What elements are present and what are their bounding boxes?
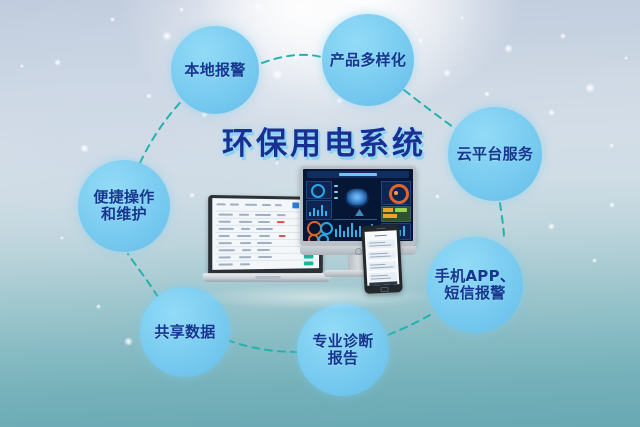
- node-bubble-label: 共享数据: [154, 324, 215, 341]
- phone-home-button: [380, 287, 388, 292]
- node-bubble-label: 便捷操作 和维护: [93, 189, 154, 223]
- node-bubble-easy-operation[interactable]: 便捷操作 和维护: [78, 160, 170, 252]
- node-bubble-label: 专业诊断 报告: [312, 333, 373, 367]
- laptop-notch: [255, 276, 281, 279]
- connector-c1: [262, 55, 325, 63]
- connector-c6: [128, 254, 158, 297]
- node-bubble-label: 本地报警: [184, 62, 245, 79]
- connector-c4: [388, 315, 430, 335]
- node-bubble-local-alarm[interactable]: 本地报警: [171, 26, 259, 114]
- monitor-logo: [355, 248, 362, 255]
- node-bubble-label: 手机APP、 短信报警: [435, 268, 515, 302]
- node-bubble-mobile-app-sms[interactable]: 手机APP、 短信报警: [427, 237, 523, 333]
- connector-c3: [500, 203, 504, 240]
- node-bubble-product-diversity[interactable]: 产品多样化: [322, 14, 414, 106]
- poster-canvas: 本地报警产品多样化云平台服务手机APP、 短信报警专业诊断 报告共享数据便捷操作…: [0, 0, 640, 427]
- connector-c5: [230, 341, 298, 352]
- node-bubble-label: 产品多样化: [330, 52, 407, 69]
- page-title: 环保用电系统: [222, 118, 426, 163]
- node-bubble-cloud-platform[interactable]: 云平台服务: [448, 107, 542, 201]
- phone-speaker: [376, 228, 385, 229]
- phone-screen: [365, 230, 400, 286]
- smartphone-device: [361, 224, 403, 294]
- node-bubble-diagnosis-report[interactable]: 专业诊断 报告: [297, 304, 389, 396]
- node-bubble-label: 云平台服务: [457, 146, 534, 163]
